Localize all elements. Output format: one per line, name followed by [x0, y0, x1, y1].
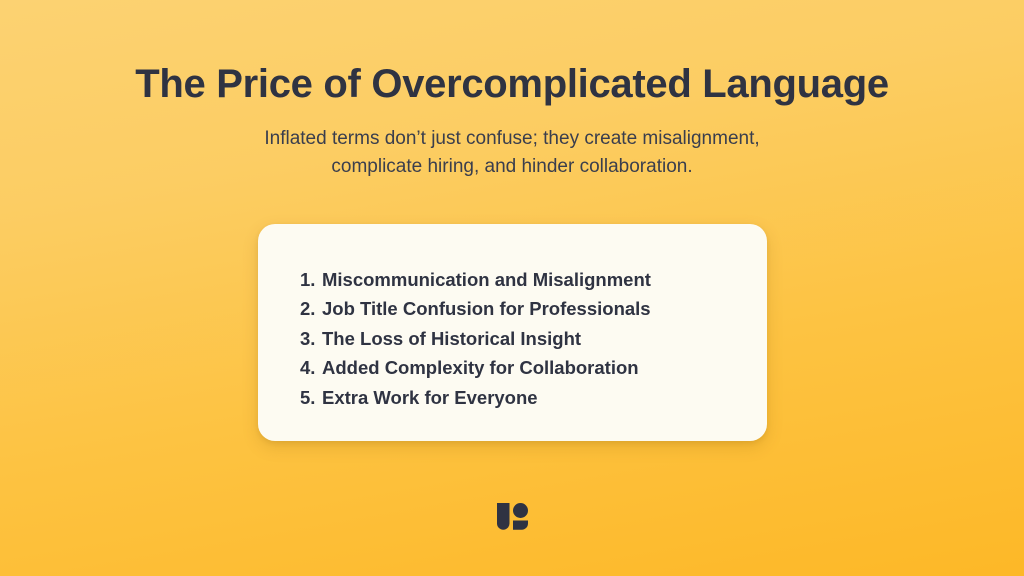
list-item: 2. Job Title Confusion for Professionals	[300, 294, 651, 323]
list-item-number: 2.	[300, 294, 322, 323]
list-item-number: 5.	[300, 383, 322, 412]
list-item: 4. Added Complexity for Collaboration	[300, 353, 651, 382]
list-item-label: Job Title Confusion for Professionals	[322, 294, 651, 323]
list-item-label: The Loss of Historical Insight	[322, 324, 581, 353]
subtitle-line-2: complicate hiring, and hinder collaborat…	[264, 153, 759, 181]
subtitle-line-1: Inflated terms don’t just confuse; they …	[264, 125, 759, 153]
page-title: The Price of Overcomplicated Language	[135, 61, 889, 108]
list-item: 3. The Loss of Historical Insight	[300, 324, 651, 353]
list-item-number: 3.	[300, 324, 322, 353]
subtitle: Inflated terms don’t just confuse; they …	[264, 125, 759, 180]
consequences-list: 1. Miscommunication and Misalignment 2. …	[300, 265, 651, 412]
list-item-label: Extra Work for Everyone	[322, 383, 538, 412]
list-item-label: Miscommunication and Misalignment	[322, 265, 651, 294]
slide-canvas: The Price of Overcomplicated Language In…	[0, 0, 1024, 576]
list-item-label: Added Complexity for Collaboration	[322, 353, 639, 382]
list-item: 1. Miscommunication and Misalignment	[300, 265, 651, 294]
list-item-number: 1.	[300, 265, 322, 294]
list-card: 1. Miscommunication and Misalignment 2. …	[258, 224, 767, 441]
list-item: 5. Extra Work for Everyone	[300, 383, 651, 412]
list-item-number: 4.	[300, 353, 322, 382]
brand-mark-icon	[497, 503, 528, 535]
